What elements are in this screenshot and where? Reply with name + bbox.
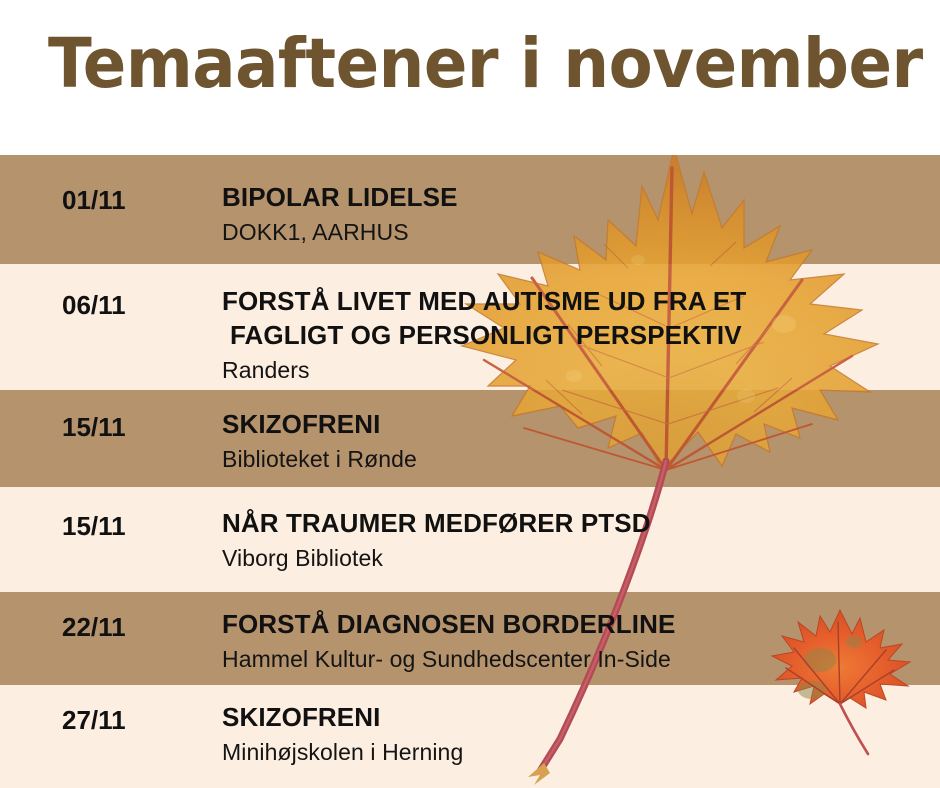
event-date: 15/11 [62, 511, 126, 542]
event-date: 01/11 [62, 185, 126, 216]
page-title: Temaaftener i november [48, 28, 923, 100]
event-venue: DOKK1, AARHUS [222, 218, 930, 248]
event-title-line: BIPOLAR LIDELSE [222, 181, 930, 215]
event-date: 06/11 [62, 290, 126, 321]
event-title: SKIZOFRENI [222, 701, 930, 735]
event-title: SKIZOFRENI [222, 408, 930, 442]
event-row[interactable]: 06/11 FORSTÅ LIVET MED AUTISME UD FRA ET… [0, 264, 940, 390]
event-date: 15/11 [62, 412, 126, 443]
event-title: FORSTÅ DIAGNOSEN BORDERLINE [222, 608, 930, 642]
event-detail: SKIZOFRENI Minihøjskolen i Herning [222, 701, 930, 768]
event-detail: FORSTÅ DIAGNOSEN BORDERLINE Hammel Kultu… [222, 608, 930, 675]
event-venue: Viborg Bibliotek [222, 544, 930, 574]
event-title: NÅR TRAUMER MEDFØRER PTSD [222, 507, 930, 541]
event-venue: Minihøjskolen i Herning [222, 738, 930, 768]
event-row[interactable]: 27/11 SKIZOFRENI Minihøjskolen i Herning [0, 685, 940, 788]
event-title-line: SKIZOFRENI [222, 701, 930, 735]
event-detail: FORSTÅ LIVET MED AUTISME UD FRA ET FAGLI… [222, 285, 930, 385]
event-title-line: FAGLIGT OG PERSONLIGT PERSPEKTIV [222, 319, 930, 353]
poster-canvas: 01/11 BIPOLAR LIDELSE DOKK1, AARHUS 06/1… [0, 0, 940, 788]
event-title-line: FORSTÅ DIAGNOSEN BORDERLINE [222, 608, 930, 642]
event-venue: Hammel Kultur- og Sundhedscenter In-Side [222, 645, 930, 675]
event-row[interactable]: 15/11 NÅR TRAUMER MEDFØRER PTSD Viborg B… [0, 487, 940, 592]
event-title-line: NÅR TRAUMER MEDFØRER PTSD [222, 507, 930, 541]
event-title-line: FORSTÅ LIVET MED AUTISME UD FRA ET [222, 285, 930, 319]
event-venue: Randers [222, 356, 930, 386]
event-row[interactable]: 22/11 FORSTÅ DIAGNOSEN BORDERLINE Hammel… [0, 592, 940, 685]
event-row[interactable]: 15/11 SKIZOFRENI Biblioteket i Rønde [0, 390, 940, 487]
event-title: FORSTÅ LIVET MED AUTISME UD FRA ET FAGLI… [222, 285, 930, 353]
event-title: BIPOLAR LIDELSE [222, 181, 930, 215]
event-date: 27/11 [62, 705, 126, 736]
event-detail: SKIZOFRENI Biblioteket i Rønde [222, 408, 930, 475]
event-date: 22/11 [62, 612, 126, 643]
event-detail: NÅR TRAUMER MEDFØRER PTSD Viborg Bibliot… [222, 507, 930, 574]
event-detail: BIPOLAR LIDELSE DOKK1, AARHUS [222, 181, 930, 248]
event-venue: Biblioteket i Rønde [222, 445, 930, 475]
event-title-line: SKIZOFRENI [222, 408, 930, 442]
event-row[interactable]: 01/11 BIPOLAR LIDELSE DOKK1, AARHUS [0, 155, 940, 264]
poster-header: Temaaftener i november [0, 0, 940, 155]
